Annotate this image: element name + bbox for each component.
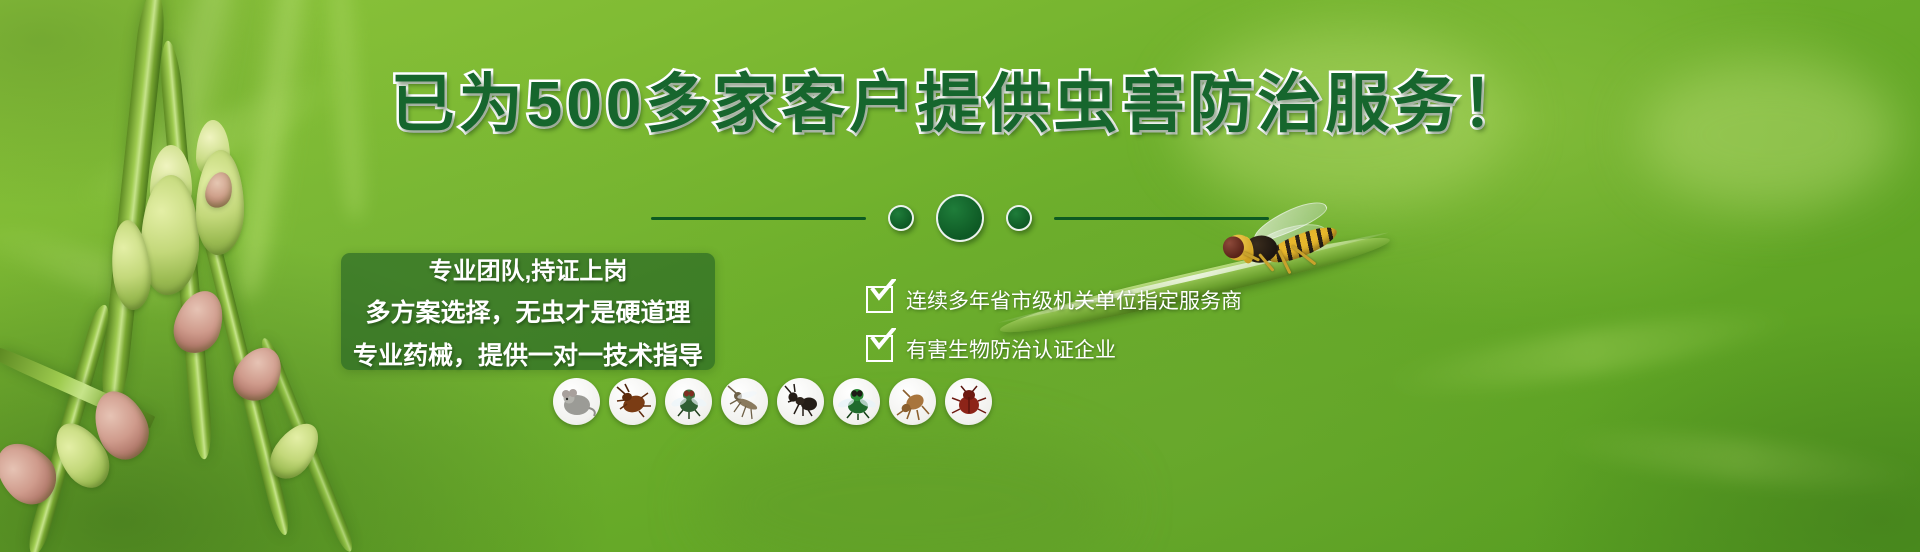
selling-point-3: 专业药械，提供一对一技术指导	[353, 336, 703, 372]
divider-dot-large	[936, 194, 984, 242]
divider-dot-small-right	[1006, 205, 1032, 231]
divider-dot-small-left	[888, 205, 914, 231]
mosquito-icon	[721, 378, 768, 425]
pest-type-icon-row	[553, 378, 992, 425]
bedbug-icon	[945, 378, 992, 425]
cockroach-icon	[609, 378, 656, 425]
certification-checklist: 连续多年省市级机关单位指定服务商 有害生物防治认证企业	[866, 275, 1296, 373]
mouse-icon	[553, 378, 600, 425]
divider-rule-right	[1054, 217, 1269, 220]
page-title-text: 已为500多家客户提供虫害防治服务！	[391, 68, 1530, 140]
blowfly-icon	[833, 378, 880, 425]
pest-control-hero-banner: 已为500多家客户提供虫害防治服务！ 专业团队,持证上岗 多方案选择，无虫才是硬…	[0, 0, 1920, 552]
checkbox-checked-icon	[866, 286, 893, 313]
decorative-divider	[0, 198, 1920, 238]
selling-points-box: 专业团队,持证上岗 多方案选择，无虫才是硬道理 专业药械，提供一对一技术指导	[341, 253, 715, 370]
fly-icon	[665, 378, 712, 425]
selling-point-2: 多方案选择，无虫才是硬道理	[365, 293, 690, 329]
selling-point-1: 专业团队,持证上岗	[429, 251, 628, 286]
checklist-item-label: 有害生物防治认证企业	[906, 334, 1116, 364]
checkbox-checked-icon	[866, 335, 893, 362]
page-title: 已为500多家客户提供虫害防治服务！	[0, 72, 1920, 136]
flea-icon	[889, 378, 936, 425]
checklist-item: 有害生物防治认证企业	[866, 324, 1296, 373]
checklist-item-label: 连续多年省市级机关单位指定服务商	[906, 285, 1242, 315]
divider-rule-left	[651, 217, 866, 220]
checklist-item: 连续多年省市级机关单位指定服务商	[866, 275, 1296, 324]
ant-icon	[777, 378, 824, 425]
